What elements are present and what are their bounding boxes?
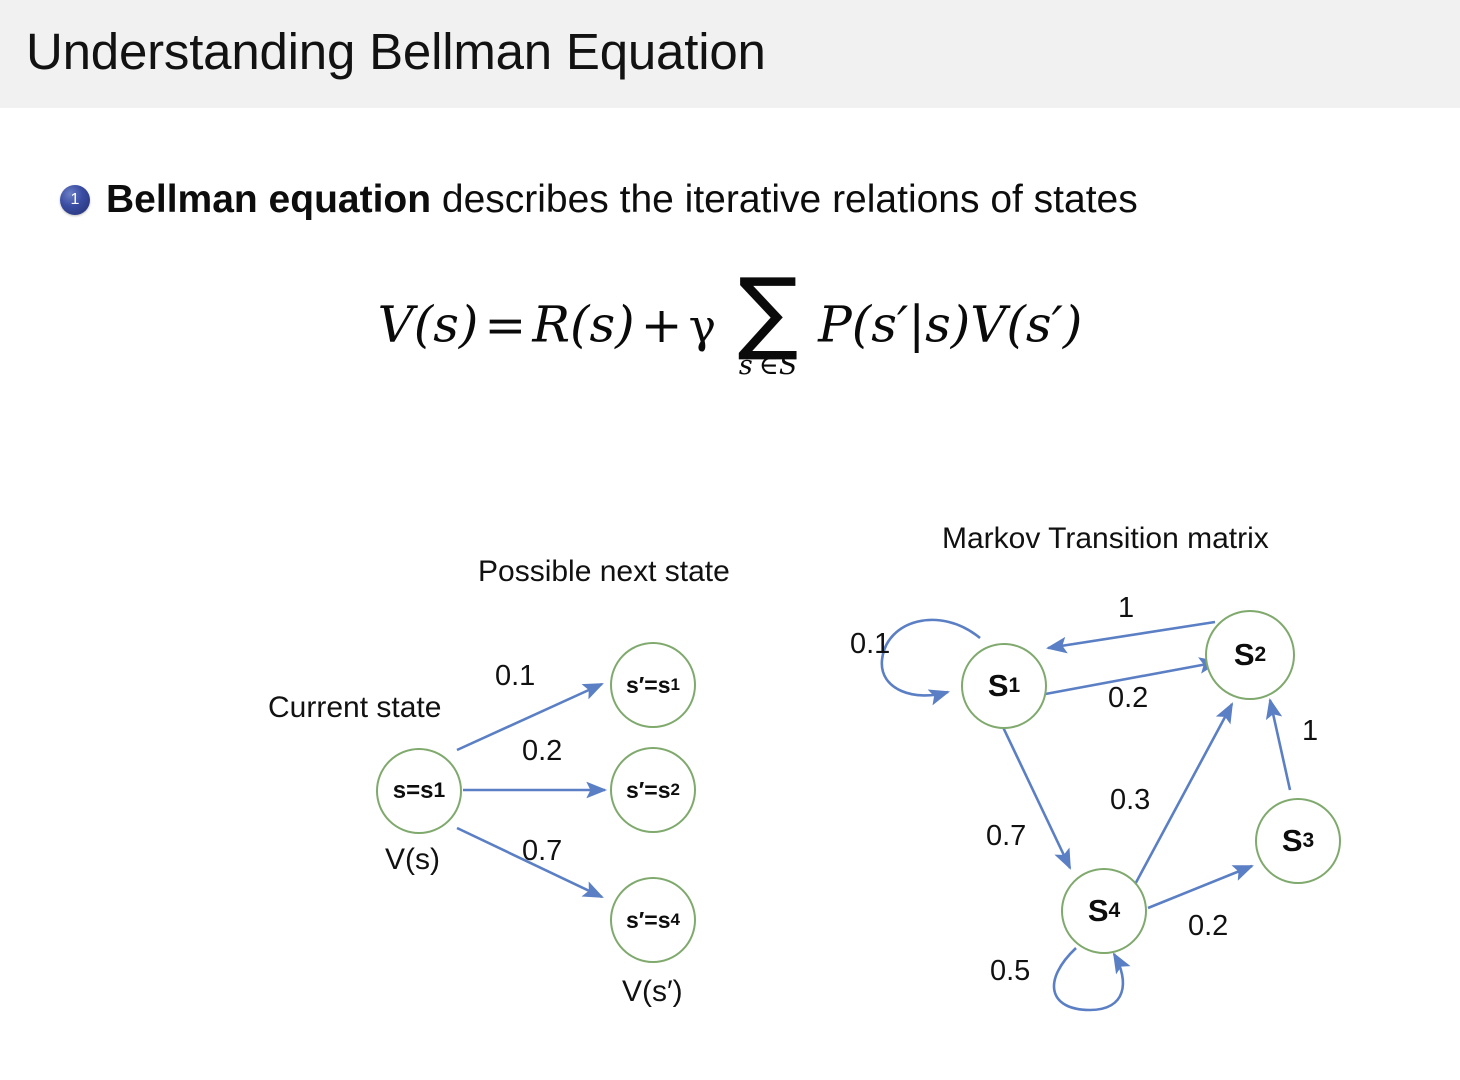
bellman-equation: V(s)=R(s)+γ∑s′∈SP(s′|s)V(s′) <box>0 276 1460 381</box>
eq-plus: + <box>635 296 689 354</box>
possible-next-state-diagram: Possible next state Current state s=s1 V… <box>250 545 790 1025</box>
sigma-icon: ∑ <box>722 276 814 348</box>
node-s1[interactable]: S1 <box>961 643 1047 729</box>
node-s1-sub: 1 <box>1009 674 1021 698</box>
node-next-state-4-label: s′=s <box>626 907 671 934</box>
bullet-text: Bellman equation describes the iterative… <box>106 178 1138 222</box>
edge-label-s3-to-s2: 1 <box>1302 715 1318 748</box>
eq-R: R <box>532 296 570 354</box>
value-label-current: V(s) <box>385 843 440 877</box>
eq-V2-arg: (s′) <box>1006 296 1082 354</box>
eq-equals: = <box>478 296 532 354</box>
eq-summation: ∑s′∈S <box>722 276 814 381</box>
edge-label-s1-to-s2: 0.2 <box>1108 682 1148 715</box>
left-diagram-arrows <box>250 545 790 1025</box>
node-s2-label: S <box>1234 637 1255 673</box>
bullet-rest-text: describes the iterative relations of sta… <box>431 178 1138 221</box>
node-current-state-label: s=s <box>393 777 434 805</box>
node-s4-sub: 4 <box>1109 899 1121 923</box>
edge-label-s2-to-s1: 1 <box>1118 592 1134 625</box>
page-title: Understanding Bellman Equation <box>26 22 766 81</box>
node-s3-sub: 3 <box>1303 829 1315 853</box>
node-next-state-1[interactable]: s′=s1 <box>610 642 696 728</box>
bullet-row: 1 Bellman equation describes the iterati… <box>60 178 1138 222</box>
eq-sum-subscript: s′∈S <box>722 350 814 381</box>
eq-lhs-arg: (s) <box>414 296 479 354</box>
node-s1-label: S <box>988 668 1009 704</box>
node-s3-label: S <box>1282 823 1303 859</box>
edge-label-s1-to-s4: 0.7 <box>986 820 1026 853</box>
eq-gamma: γ <box>689 299 719 353</box>
eq-sum-sub-s: s′ <box>739 350 759 381</box>
node-current-state[interactable]: s=s1 <box>376 748 462 834</box>
bullet-strong-text: Bellman equation <box>106 178 431 221</box>
current-state-label: Current state <box>268 691 441 725</box>
eq-R-arg: (s) <box>570 296 635 354</box>
edge-label-0-1: 0.1 <box>495 660 535 693</box>
edge-s3-to-s2 <box>1270 700 1290 790</box>
eq-sum-sub-in: ∈ <box>759 350 779 381</box>
edge-label-s4-self: 0.5 <box>990 955 1030 988</box>
node-s2-sub: 2 <box>1255 643 1267 667</box>
eq-P: P <box>818 296 852 354</box>
edge-s2-to-s1 <box>1048 622 1215 648</box>
node-next-state-2-label: s′=s <box>626 777 671 804</box>
markov-title: Markov Transition matrix <box>942 522 1269 556</box>
node-next-state-4-sub: 4 <box>671 910 680 930</box>
eq-sum-sub-S: S <box>779 350 798 381</box>
bullet-number-badge: 1 <box>60 185 90 215</box>
node-s4-label: S <box>1088 893 1109 929</box>
node-next-state-2-sub: 2 <box>671 780 680 800</box>
node-s2[interactable]: S2 <box>1205 610 1295 700</box>
edge-label-0-7: 0.7 <box>522 835 562 868</box>
edge-label-s4-to-s2: 0.3 <box>1110 784 1150 817</box>
edge-label-s1-self: 0.1 <box>850 628 890 661</box>
eq-lhs-V: V <box>378 296 414 354</box>
possible-next-state-title: Possible next state <box>478 555 730 589</box>
edge-s4-self-loop <box>1054 948 1123 1010</box>
node-s4[interactable]: S4 <box>1061 868 1147 954</box>
eq-V2: V <box>970 296 1006 354</box>
node-next-state-2[interactable]: s′=s2 <box>610 747 696 833</box>
value-label-next: V(s′) <box>622 975 683 1009</box>
node-next-state-1-sub: 1 <box>671 675 680 695</box>
edge-s4-to-s3 <box>1148 866 1252 908</box>
eq-P-arg: (s′|s) <box>852 296 971 354</box>
node-next-state-4[interactable]: s′=s4 <box>610 877 696 963</box>
node-next-state-1-label: s′=s <box>626 672 671 699</box>
node-s3[interactable]: S3 <box>1255 798 1341 884</box>
markov-transition-matrix-diagram: Markov Transition matrix S1 S2 S3 S4 0.1… <box>830 510 1400 1030</box>
edge-label-0-2: 0.2 <box>522 735 562 768</box>
node-current-state-sub: 1 <box>434 779 446 803</box>
edge-label-s4-to-s3: 0.2 <box>1188 910 1228 943</box>
